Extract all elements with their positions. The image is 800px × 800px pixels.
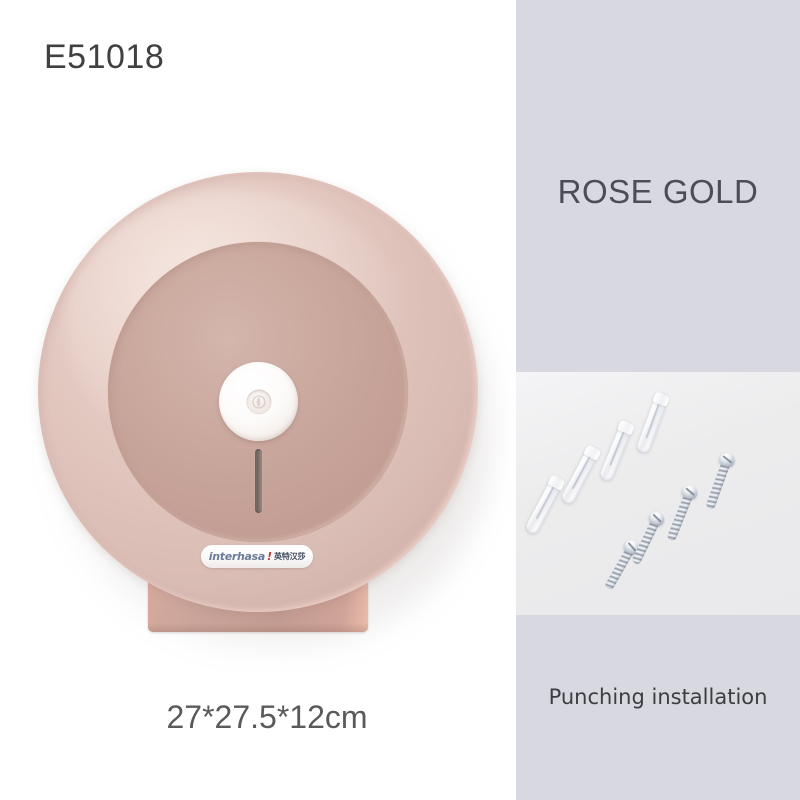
screw-shank [666,495,692,542]
installation-type-text: Punching installation [549,685,768,709]
dispenser-paper-cut-slot [255,449,262,513]
screw-shank [705,463,730,510]
right-info-column: ROSE GOLD Punching installation [516,0,800,800]
color-name-panel: ROSE GOLD [516,0,800,372]
mounting-screw [666,484,698,542]
color-name-text: ROSE GOLD [558,173,759,211]
brand-mark-text: ! [267,551,272,562]
brand-name-chinese: 英特汉莎 [274,553,305,561]
product-dimensions-text: 27*27.5*12cm [166,699,367,736]
brand-badge: interhasa ! 英特汉莎 [201,545,313,568]
product-photo-pane: E51018 interhasa ! 英特汉莎 27 [0,0,516,800]
knob-logo-emboss [246,389,271,414]
product-dimensions-label: 27*27.5*12cm [0,699,516,736]
installation-type-panel: Punching installation [516,615,800,800]
mounting-screw [603,539,640,591]
wall-anchor [560,445,601,506]
product-image-stage: E51018 interhasa ! 英特汉莎 27 [0,0,800,800]
wall-anchor [524,475,565,536]
product-sku-label: E51018 [44,38,164,77]
mounting-screw [704,452,734,510]
mounting-screw [630,510,664,565]
brand-name-text: interhasa [209,551,265,562]
wall-anchor [636,392,669,455]
mounting-hardware-photo [516,372,800,615]
dispenser-center-knob[interactable] [219,362,298,441]
wall-anchor [599,420,634,482]
screw-shank [604,549,633,591]
